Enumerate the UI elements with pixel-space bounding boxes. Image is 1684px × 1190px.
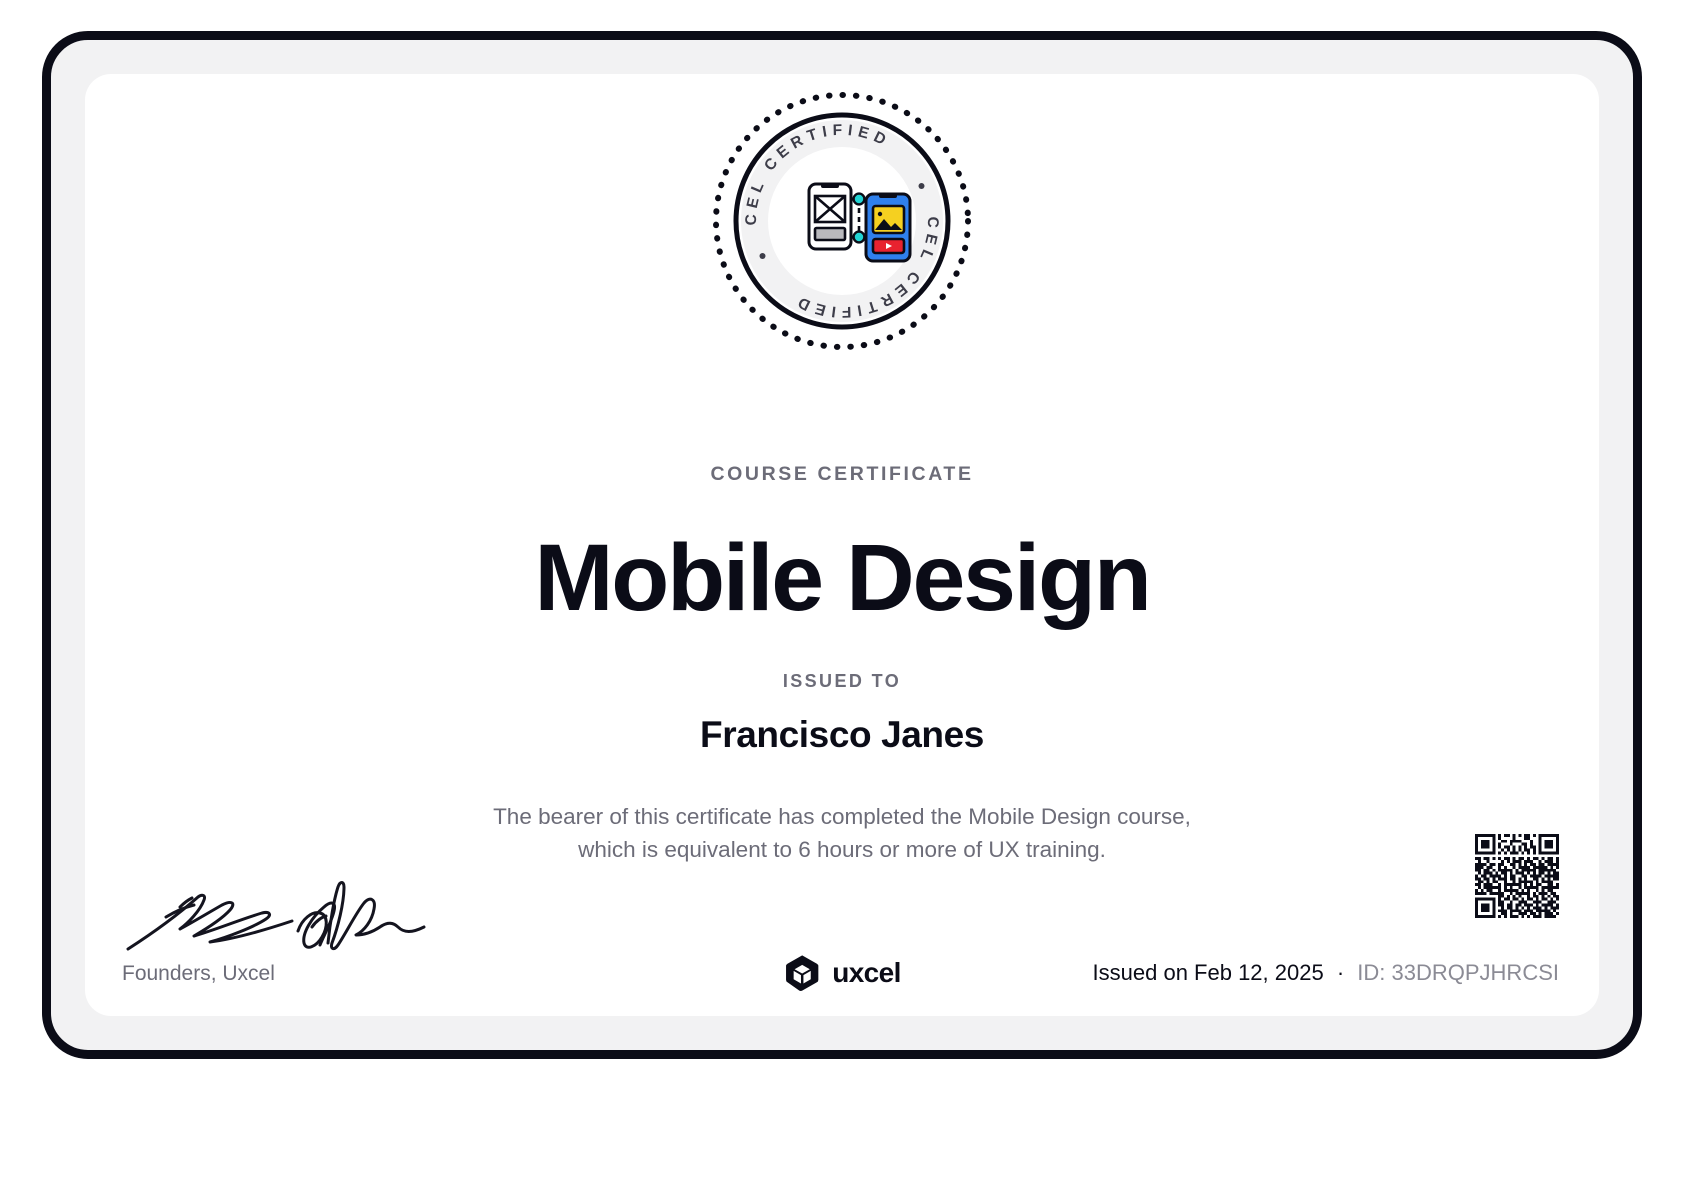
issued-to-label: ISSUED TO — [85, 671, 1599, 692]
certificate-card: UXCEL CERTIFIED UXCEL CERTIFIED — [85, 74, 1599, 1016]
uxcel-brand-name: uxcel — [832, 957, 901, 989]
founders-caption: Founders, Uxcel — [122, 962, 275, 986]
certificate-description: The bearer of this certificate has compl… — [392, 800, 1292, 866]
signature-one — [128, 895, 292, 949]
certificate-id: ID: 33DRQPJHRCSI — [1357, 960, 1559, 985]
certificate-frame: UXCEL CERTIFIED UXCEL CERTIFIED — [42, 31, 1642, 1059]
issue-separator: · — [1330, 960, 1351, 985]
issue-details: Issued on Feb 12, 2025 · ID: 33DRQPJHRCS… — [1093, 960, 1559, 986]
issued-on-date: Issued on Feb 12, 2025 — [1093, 960, 1324, 985]
certified-badge: UXCEL CERTIFIED UXCEL CERTIFIED — [707, 86, 977, 356]
founder-signatures — [122, 869, 452, 961]
description-line-2: which is equivalent to 6 hours or more o… — [392, 833, 1292, 866]
description-line-1: The bearer of this certificate has compl… — [392, 800, 1292, 833]
recipient-name: Francisco Janes — [85, 714, 1599, 756]
uxcel-brand: uxcel — [783, 954, 901, 992]
uxcel-cube-logo-icon — [783, 954, 821, 992]
signature-two — [298, 883, 424, 949]
qr-code[interactable] — [1475, 834, 1559, 918]
certificate-title: Mobile Design — [85, 526, 1599, 630]
course-certificate-kicker: COURSE CERTIFICATE — [85, 463, 1599, 486]
